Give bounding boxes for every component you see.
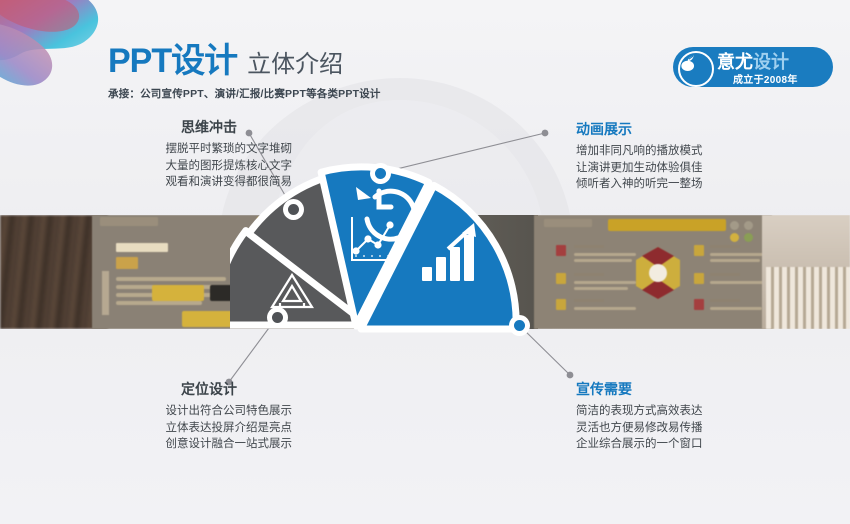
slide-canvas: PPT设计立体介绍 承接：公司宣传PPT、演讲/汇报/比赛PPT等各类PPT设计… (0, 0, 850, 524)
callout-heading: 宣传需要 (576, 380, 808, 398)
callout-heading: 动画展示 (576, 120, 808, 138)
callout-line: 设计出符合公司特色展示 (60, 403, 292, 420)
node-bottom-left[interactable] (267, 307, 288, 328)
callout-line: 让演讲更加生动体验俱佳 (576, 160, 808, 177)
node-top-right[interactable] (370, 163, 391, 184)
callout-heading: 定位设计 (60, 380, 292, 398)
logo-brand-light: 设计 (753, 52, 789, 72)
logo-brand-dark: 意尤 (717, 52, 753, 72)
title-note: 承接：公司宣传PPT、演讲/汇报/比赛PPT等各类PPT设计 (108, 86, 381, 101)
building-photo (762, 215, 850, 329)
callout-line: 灵活也方便易修改易传播 (576, 420, 808, 437)
logo-established: 成立于2008年 (733, 71, 798, 86)
mouse-icon (679, 54, 698, 73)
slide-thumbnail-right (534, 215, 772, 329)
node-bottom-right[interactable] (509, 315, 530, 336)
callout-line: 企业综合展示的一个窗口 (576, 436, 808, 453)
node-top-left[interactable] (283, 199, 304, 220)
title-sub: 立体介绍 (247, 44, 343, 79)
title-main: PPT设计 (108, 44, 237, 78)
callout-bottom-left: 定位设计 设计出符合公司特色展示 立体表达投屏介绍是亮点 创意设计融合一站式展示 (60, 380, 292, 453)
callout-line: 大量的图形提炼核心文字 (60, 158, 292, 175)
callout-line: 观看和演讲变得都很简易 (60, 174, 292, 191)
callout-line: 倾听者入神的听完一整场 (576, 176, 808, 193)
logo-brand-text: 意尤设计 (717, 52, 789, 72)
callout-line: 摆脱平时繁琐的文字堆砌 (60, 141, 292, 158)
callout-top-right: 动画展示 增加非同凡响的播放模式 让演讲更加生动体验俱佳 倾听者入神的听完一整场 (576, 120, 808, 193)
callout-heading: 思维冲击 (60, 118, 292, 136)
callout-line: 立体表达投屏介绍是亮点 (60, 420, 292, 437)
callout-line: 创意设计融合一站式展示 (60, 436, 292, 453)
page-title: PPT设计立体介绍 承接：公司宣传PPT、演讲/汇报/比赛PPT等各类PPT设计 (108, 44, 381, 101)
brand-logo[interactable]: 意尤设计 成立于2008年 (673, 47, 833, 87)
callout-line: 增加非同凡响的播放模式 (576, 143, 808, 160)
callout-bottom-right: 宣传需要 简洁的表现方式高效表达 灵活也方便易修改易传播 企业综合展示的一个窗口 (576, 380, 808, 453)
callout-top-left: 思维冲击 摆脱平时繁琐的文字堆砌 大量的图形提炼核心文字 观看和演讲变得都很简易 (60, 118, 292, 191)
callout-line: 简洁的表现方式高效表达 (576, 403, 808, 420)
